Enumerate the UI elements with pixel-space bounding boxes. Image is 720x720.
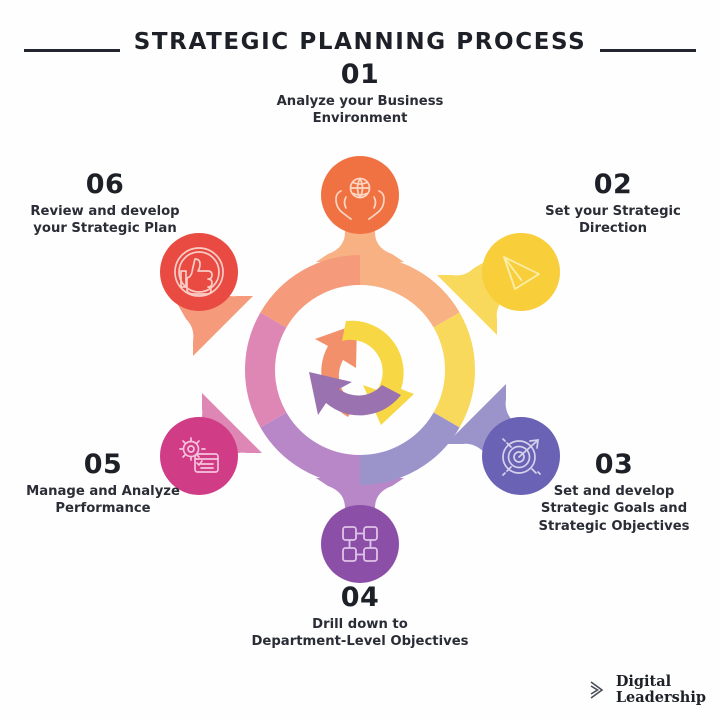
brand-name: Digital Leadership [616,674,706,706]
ring-arc-05 [260,320,273,420]
step-description-02: Set your Strategic Direction [520,203,706,238]
ring-arc-04 [273,420,360,470]
cycle-arrows-emblem [309,321,414,425]
step-number-05: 05 [10,450,196,480]
process-node-01[interactable] [321,156,399,234]
step-label-03: 03 Set and develop Strategic Goals and S… [516,450,712,536]
step-label-05: 05 Manage and Analyze Performance [10,450,196,518]
brand-logo: Digital Leadership [589,674,706,706]
step-label-02: 02 Set your Strategic Direction [520,170,706,238]
node-circle-06[interactable] [160,233,238,311]
node-circle-04[interactable] [321,505,399,583]
step-description-03: Set and develop Strategic Goals and Stra… [516,483,712,536]
step-label-06: 06 Review and develop your Strategic Pla… [8,170,202,238]
ring-arc-02 [447,320,460,420]
step-number-06: 06 [8,170,202,200]
process-node-04[interactable] [321,505,399,583]
step-description-05: Manage and Analyze Performance [10,483,196,518]
step-number-01: 01 [240,60,480,90]
step-description-06: Review and develop your Strategic Plan [8,203,202,238]
process-ring [260,270,460,470]
step-number-04: 04 [232,583,488,613]
step-label-01: 01 Analyze your Business Environment [240,60,480,128]
ring-arc-06 [273,270,360,320]
step-description-04: Drill down to Department-Level Objective… [232,616,488,651]
step-number-03: 03 [516,450,712,480]
process-node-06[interactable] [160,233,238,311]
ring-arc-03 [360,420,447,470]
step-number-02: 02 [520,170,706,200]
ring-arc-01 [360,270,447,320]
double-chevron-icon [589,679,609,701]
infographic-canvas: STRATEGIC PLANNING PROCESS [0,0,720,720]
node-circle-02[interactable] [482,233,560,311]
step-description-01: Analyze your Business Environment [240,93,480,128]
process-node-02[interactable] [482,233,560,311]
step-label-04: 04 Drill down to Department-Level Object… [232,583,488,651]
